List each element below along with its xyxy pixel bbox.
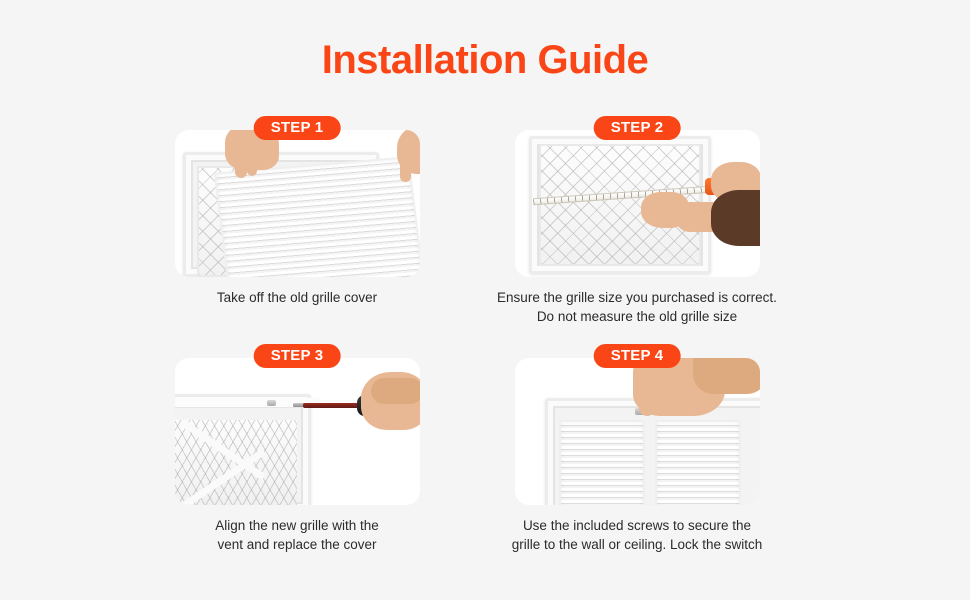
step-1-badge: STEP 1: [254, 116, 341, 140]
finger-left: [235, 152, 247, 178]
wrist: [693, 358, 760, 394]
brown-sleeve: [711, 190, 760, 246]
thumb: [653, 388, 667, 416]
finger-right: [400, 158, 411, 182]
knuckles: [371, 378, 420, 404]
caption-line: Do not measure the old grille size: [487, 307, 787, 326]
step-2-photo: [515, 130, 760, 277]
caption-line: Align the new grille with the: [147, 516, 447, 535]
step-1-photo: [175, 130, 420, 277]
louver-panel-left: [559, 420, 645, 505]
caption-line: vent and replace the cover: [147, 535, 447, 554]
scene-grille-removal: [175, 130, 420, 277]
step-2-caption: Ensure the grille size you purchased is …: [487, 288, 787, 326]
caption-line: grille to the wall or ceiling. Lock the …: [487, 535, 787, 554]
step-4-caption: Use the included screws to secure the gr…: [487, 516, 787, 554]
step-2-badge: STEP 2: [594, 116, 681, 140]
step-1-caption: Take off the old grille cover: [147, 288, 447, 307]
step-3-caption: Align the new grille with the vent and r…: [147, 516, 447, 554]
louver-panel-right: [655, 420, 741, 505]
caption-line: Take off the old grille cover: [147, 288, 447, 307]
step-3-badge: STEP 3: [254, 344, 341, 368]
scene-lock-switch: [515, 358, 760, 505]
screwdriver-shaft: [303, 403, 361, 408]
step-4-badge: STEP 4: [594, 344, 681, 368]
caption-line: Ensure the grille size you purchased is …: [487, 288, 787, 307]
scene-measure-filter: [515, 130, 760, 277]
steps-grid: STEP 1 Take off the old grille cover: [0, 0, 970, 600]
step-3-photo: [175, 358, 420, 505]
thumb-left: [247, 154, 257, 176]
caption-line: Use the included screws to secure the: [487, 516, 787, 535]
scene-screwdriver-align: [175, 358, 420, 505]
installation-guide-page: Installation Guide: [0, 0, 970, 600]
screw-hole: [267, 400, 276, 406]
step-4-photo: [515, 358, 760, 505]
